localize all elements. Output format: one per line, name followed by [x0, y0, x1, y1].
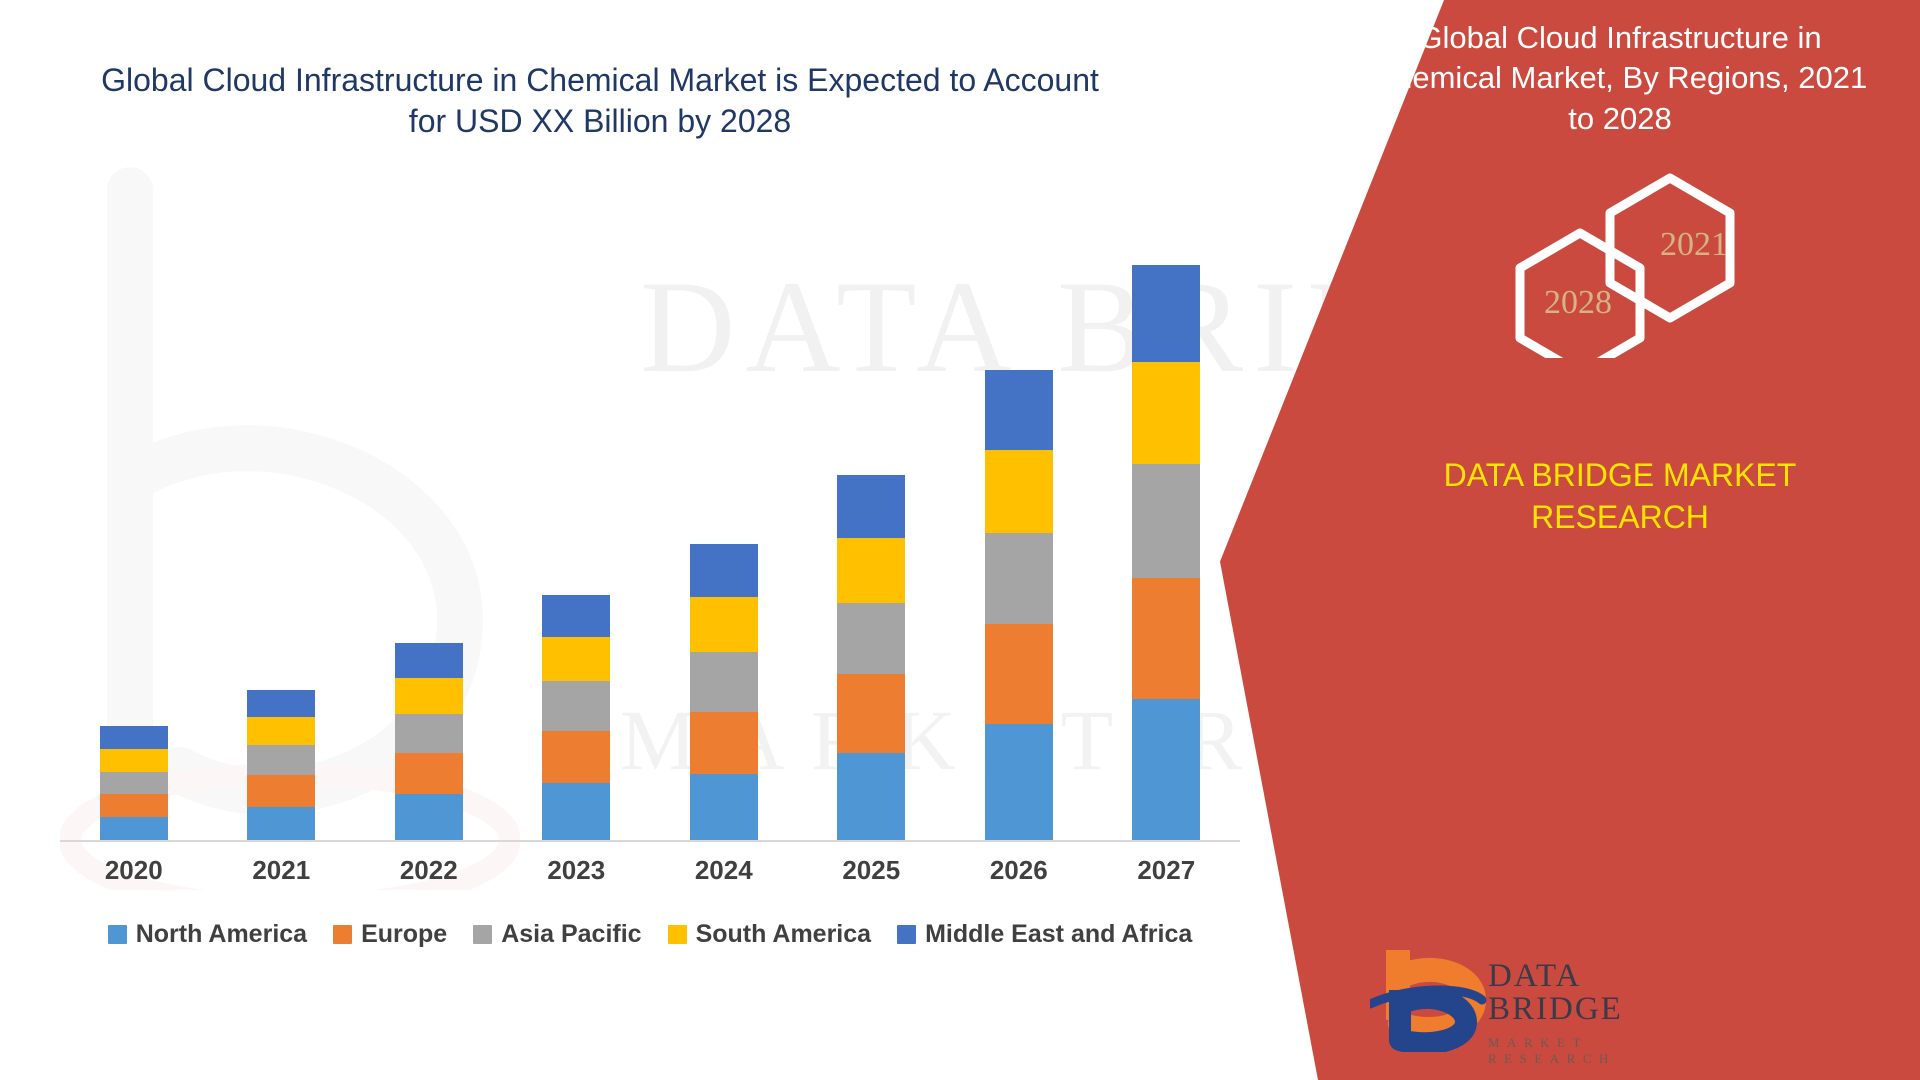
bar-segment[interactable]: [1132, 578, 1200, 700]
legend-swatch-icon: [897, 925, 916, 944]
bar-segment[interactable]: [542, 595, 610, 637]
bar-segment[interactable]: [1132, 362, 1200, 464]
bar-segment[interactable]: [247, 717, 315, 746]
bar-segment[interactable]: [985, 533, 1053, 624]
stacked-bar[interactable]: [837, 475, 905, 840]
bar-segment[interactable]: [247, 690, 315, 717]
bar-group: [60, 232, 1240, 840]
bar-slot: [945, 232, 1093, 840]
bar-segment[interactable]: [985, 450, 1053, 534]
bar-segment[interactable]: [247, 775, 315, 806]
bar-segment[interactable]: [100, 726, 168, 749]
logo-wordmark: DATA BRIDGE MARKET RESEARCH: [1488, 960, 1710, 1067]
bar-segment[interactable]: [690, 712, 758, 774]
bar-segment[interactable]: [542, 681, 610, 730]
data-bridge-logo: DATA BRIDGE MARKET RESEARCH: [1370, 942, 1710, 1052]
bar-segment[interactable]: [985, 624, 1053, 724]
bar-segment[interactable]: [247, 807, 315, 840]
bar-slot: [503, 232, 651, 840]
x-axis-tick-label: 2021: [208, 855, 356, 897]
legend-swatch-icon: [473, 925, 492, 944]
right-red-panel: [1220, 0, 1920, 1080]
bar-segment[interactable]: [395, 714, 463, 753]
x-axis-labels: 20202021202220232024202520262027: [60, 855, 1240, 897]
bar-segment[interactable]: [690, 774, 758, 841]
legend-label: Europe: [361, 920, 447, 949]
brand-name-text: DATA BRIDGE MARKET RESEARCH: [1370, 455, 1870, 538]
legend-label: South America: [696, 920, 872, 949]
legend-item[interactable]: Europe: [333, 920, 447, 949]
legend-item[interactable]: North America: [108, 920, 307, 949]
infographic-root: DATA BRIDGE MARKET RESEARCH Global Cloud…: [0, 0, 1920, 1080]
right-panel-heading: Global Cloud Infrastructure in Chemical …: [1360, 18, 1880, 139]
bar-segment[interactable]: [1132, 265, 1200, 362]
stacked-bar[interactable]: [985, 370, 1053, 840]
bar-segment[interactable]: [542, 731, 610, 783]
bar-segment[interactable]: [247, 745, 315, 775]
bar-segment[interactable]: [837, 753, 905, 840]
bar-segment[interactable]: [690, 544, 758, 597]
bar-slot: [798, 232, 946, 840]
bar-segment[interactable]: [542, 783, 610, 840]
logo-sub-text: MARKET RESEARCH: [1488, 1035, 1710, 1067]
bar-slot: [60, 232, 208, 840]
x-axis-tick-label: 2020: [60, 855, 208, 897]
bar-segment[interactable]: [395, 643, 463, 677]
legend-item[interactable]: Asia Pacific: [473, 920, 641, 949]
x-axis-tick-label: 2027: [1093, 855, 1241, 897]
hexagon-outline-icon: [1512, 168, 1792, 358]
legend-label: Middle East and Africa: [925, 920, 1192, 949]
bar-segment[interactable]: [690, 597, 758, 652]
bar-segment[interactable]: [1132, 464, 1200, 578]
bar-segment[interactable]: [837, 674, 905, 753]
bar-segment[interactable]: [837, 538, 905, 603]
stacked-bar[interactable]: [247, 690, 315, 840]
bar-segment[interactable]: [985, 724, 1053, 840]
bar-slot: [208, 232, 356, 840]
bar-segment[interactable]: [100, 749, 168, 772]
legend-swatch-icon: [108, 925, 127, 944]
legend-label: North America: [136, 920, 307, 949]
stacked-bar[interactable]: [542, 595, 610, 840]
hexagon-2028-label: 2028: [1544, 284, 1612, 322]
bar-segment[interactable]: [1132, 699, 1200, 840]
stacked-bar[interactable]: [100, 726, 168, 840]
bar-segment[interactable]: [395, 794, 463, 840]
bar-segment[interactable]: [690, 652, 758, 712]
bar-slot: [1093, 232, 1241, 840]
bar-segment[interactable]: [542, 637, 610, 682]
stacked-bar[interactable]: [1132, 265, 1200, 840]
chart-legend: North AmericaEuropeAsia PacificSouth Ame…: [60, 920, 1240, 949]
legend-item[interactable]: Middle East and Africa: [897, 920, 1192, 949]
bar-segment[interactable]: [837, 475, 905, 538]
legend-swatch-icon: [668, 925, 687, 944]
bar-segment[interactable]: [837, 603, 905, 674]
x-axis-tick-label: 2026: [945, 855, 1093, 897]
bar-segment[interactable]: [985, 370, 1053, 450]
x-axis-tick-label: 2024: [650, 855, 798, 897]
bar-segment[interactable]: [395, 678, 463, 714]
x-axis-tick-label: 2023: [503, 855, 651, 897]
logo-main-text: DATA BRIDGE: [1488, 960, 1710, 1026]
x-axis-line: [60, 840, 1240, 842]
bar-segment[interactable]: [100, 772, 168, 795]
stacked-bar[interactable]: [395, 643, 463, 840]
chart-title: Global Cloud Infrastructure in Chemical …: [90, 60, 1110, 141]
legend-item[interactable]: South America: [668, 920, 872, 949]
x-axis-tick-label: 2025: [798, 855, 946, 897]
x-axis-tick-label: 2022: [355, 855, 503, 897]
bar-slot: [650, 232, 798, 840]
legend-swatch-icon: [333, 925, 352, 944]
stacked-bar[interactable]: [690, 544, 758, 840]
bar-segment[interactable]: [100, 817, 168, 840]
bar-slot: [355, 232, 503, 840]
hexagon-group: 2021 2028: [1512, 168, 1792, 358]
chart-plot-area: [60, 230, 1240, 842]
legend-label: Asia Pacific: [501, 920, 641, 949]
bar-segment[interactable]: [395, 753, 463, 795]
bar-segment[interactable]: [100, 794, 168, 817]
hexagon-2021-label: 2021: [1660, 226, 1728, 264]
